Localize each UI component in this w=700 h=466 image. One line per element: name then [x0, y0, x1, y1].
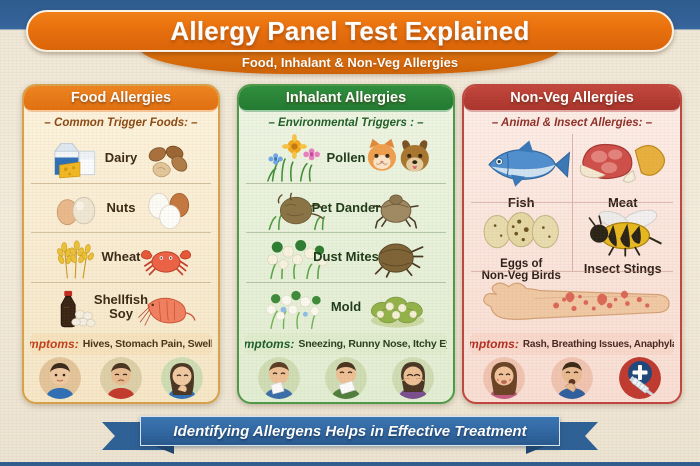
symptom-faces-inhalant [239, 356, 453, 402]
list-item[interactable]: Eggs of Non-Veg Birds [471, 203, 573, 271]
trigger-list-food: Dairy [24, 134, 218, 331]
dust-mite-large-icon [346, 233, 446, 282]
list-item[interactable]: Shellfish Soy [31, 282, 211, 332]
allergy-cards-container: Food Allergies – Common Trigger Foods: – [0, 84, 700, 406]
trigger-list-non-veg: Fish Meat [464, 134, 680, 331]
footer-ribbon: Identifying Allergens Helps in Effective… [0, 414, 700, 458]
flowers-grass-icon [246, 134, 346, 183]
arm-rash-icon [471, 272, 673, 331]
card-inhalant-allergies[interactable]: Inhalant Allergies – Environmental Trigg… [237, 84, 455, 404]
page-title: Allergy Panel Test Explained [170, 16, 529, 47]
symptom-faces-non-veg [464, 356, 680, 402]
list-item-pair[interactable]: Eggs of Non-Veg Birds [471, 202, 673, 271]
list-item[interactable]: Mold [246, 282, 446, 332]
list-item[interactable] [471, 271, 673, 331]
soy-sauce-bottle-icon [31, 283, 121, 332]
bee-wasp-icon [573, 203, 674, 258]
eggs-icon [31, 184, 121, 233]
speckled-eggs-icon [471, 203, 572, 258]
card-food-allergies[interactable]: Food Allergies – Common Trigger Foods: – [22, 84, 220, 404]
face-girl-swelling-icon [161, 357, 203, 399]
eggs-white-icon [121, 184, 211, 233]
card-subtitle-inhalant: – Environmental Triggers : – [239, 112, 453, 134]
mold-growth-icon [346, 283, 446, 332]
dander-clump-icon [246, 184, 346, 233]
face-runny-nose-icon [325, 357, 367, 399]
milk-carton-cheese-icon [31, 134, 121, 183]
shrimp-icon [121, 283, 211, 332]
face-boy-stomach-pain-icon [100, 357, 142, 399]
almonds-peanuts-icon [121, 134, 211, 183]
face-man-breathing-icon [551, 357, 593, 399]
symptoms-value: Rash, Breathing Issues, Anaphylaxis [523, 339, 674, 350]
symptoms-strip-food: Symptoms: Hives, Stomach Pain, Swelling [30, 333, 212, 355]
card-subtitle-food: – Common Trigger Foods: – [24, 112, 218, 134]
symptoms-label: Symptoms: [470, 337, 519, 351]
list-item[interactable]: Pollen [246, 134, 446, 183]
wheat-stalks-icon [31, 233, 121, 282]
card-title-non-veg: Non-Veg Allergies [510, 90, 634, 106]
face-sneezing-tissue-icon [258, 357, 300, 399]
symptoms-label: Symptoms: [30, 337, 79, 351]
symptoms-strip-non-veg: Symptoms: Rash, Breathing Issues, Anaphy… [470, 333, 674, 355]
face-itchy-eyes-icon [392, 357, 434, 399]
list-item[interactable]: Fish [471, 134, 573, 202]
list-item[interactable]: Insect Stings [573, 203, 674, 271]
crab-icon [121, 233, 211, 282]
card-non-veg-allergies[interactable]: Non-Veg Allergies – Animal & Insect Alle… [462, 84, 682, 404]
symptoms-value: Hives, Stomach Pain, Swelling [83, 338, 212, 350]
list-item[interactable]: Meat [573, 134, 674, 202]
card-title-food: Food Allergies [71, 90, 171, 106]
white-flowers-icon [246, 233, 346, 282]
card-header-inhalant: Inhalant Allergies [239, 86, 453, 112]
list-item-pair[interactable]: Fish Meat [471, 134, 673, 202]
list-item[interactable]: Wheat [31, 232, 211, 282]
symptom-faces-food [24, 356, 218, 402]
infographic-poster: Allergy Panel Test Explained Food, Inhal… [0, 0, 700, 466]
ribbon-banner: Identifying Allergens Helps in Effective… [140, 416, 560, 446]
bottom-blue-band [0, 462, 700, 466]
symptoms-label: Symptoms: [245, 337, 294, 351]
pale-flowers-grass-icon [246, 283, 346, 332]
syringe-emergency-icon [619, 357, 661, 399]
card-subtitle-non-veg: – Animal & Insect Allergies: – [464, 112, 680, 134]
trigger-list-inhalant: Pollen [239, 134, 453, 331]
symptoms-strip-inhalant: Symptoms: Sneezing, Runny Nose, Itchy Ey… [245, 333, 447, 355]
list-item[interactable]: Pet Dander [246, 183, 446, 233]
face-woman-rash-icon [483, 357, 525, 399]
poster-title-bar: Allergy Panel Test Explained [26, 10, 674, 52]
face-boy-hives-icon [39, 357, 81, 399]
list-item[interactable]: Nuts [31, 183, 211, 233]
symptoms-value: Sneezing, Runny Nose, Itchy Eyes [298, 338, 447, 350]
list-item[interactable]: Dairy [31, 134, 211, 183]
card-title-inhalant: Inhalant Allergies [286, 90, 406, 106]
page-subtitle: Food, Inhalant & Non-Veg Allergies [242, 55, 458, 70]
list-item[interactable]: Dust Mites [246, 232, 446, 282]
cat-and-dog-icon [346, 134, 446, 183]
card-header-food: Food Allergies [24, 86, 218, 112]
ribbon-label: Identifying Allergens Helps in Effective… [173, 423, 526, 440]
fish-icon [471, 134, 572, 195]
card-header-non-veg: Non-Veg Allergies [464, 86, 680, 112]
dust-mite-icon [346, 184, 446, 233]
steak-drumstick-icon [573, 134, 674, 195]
